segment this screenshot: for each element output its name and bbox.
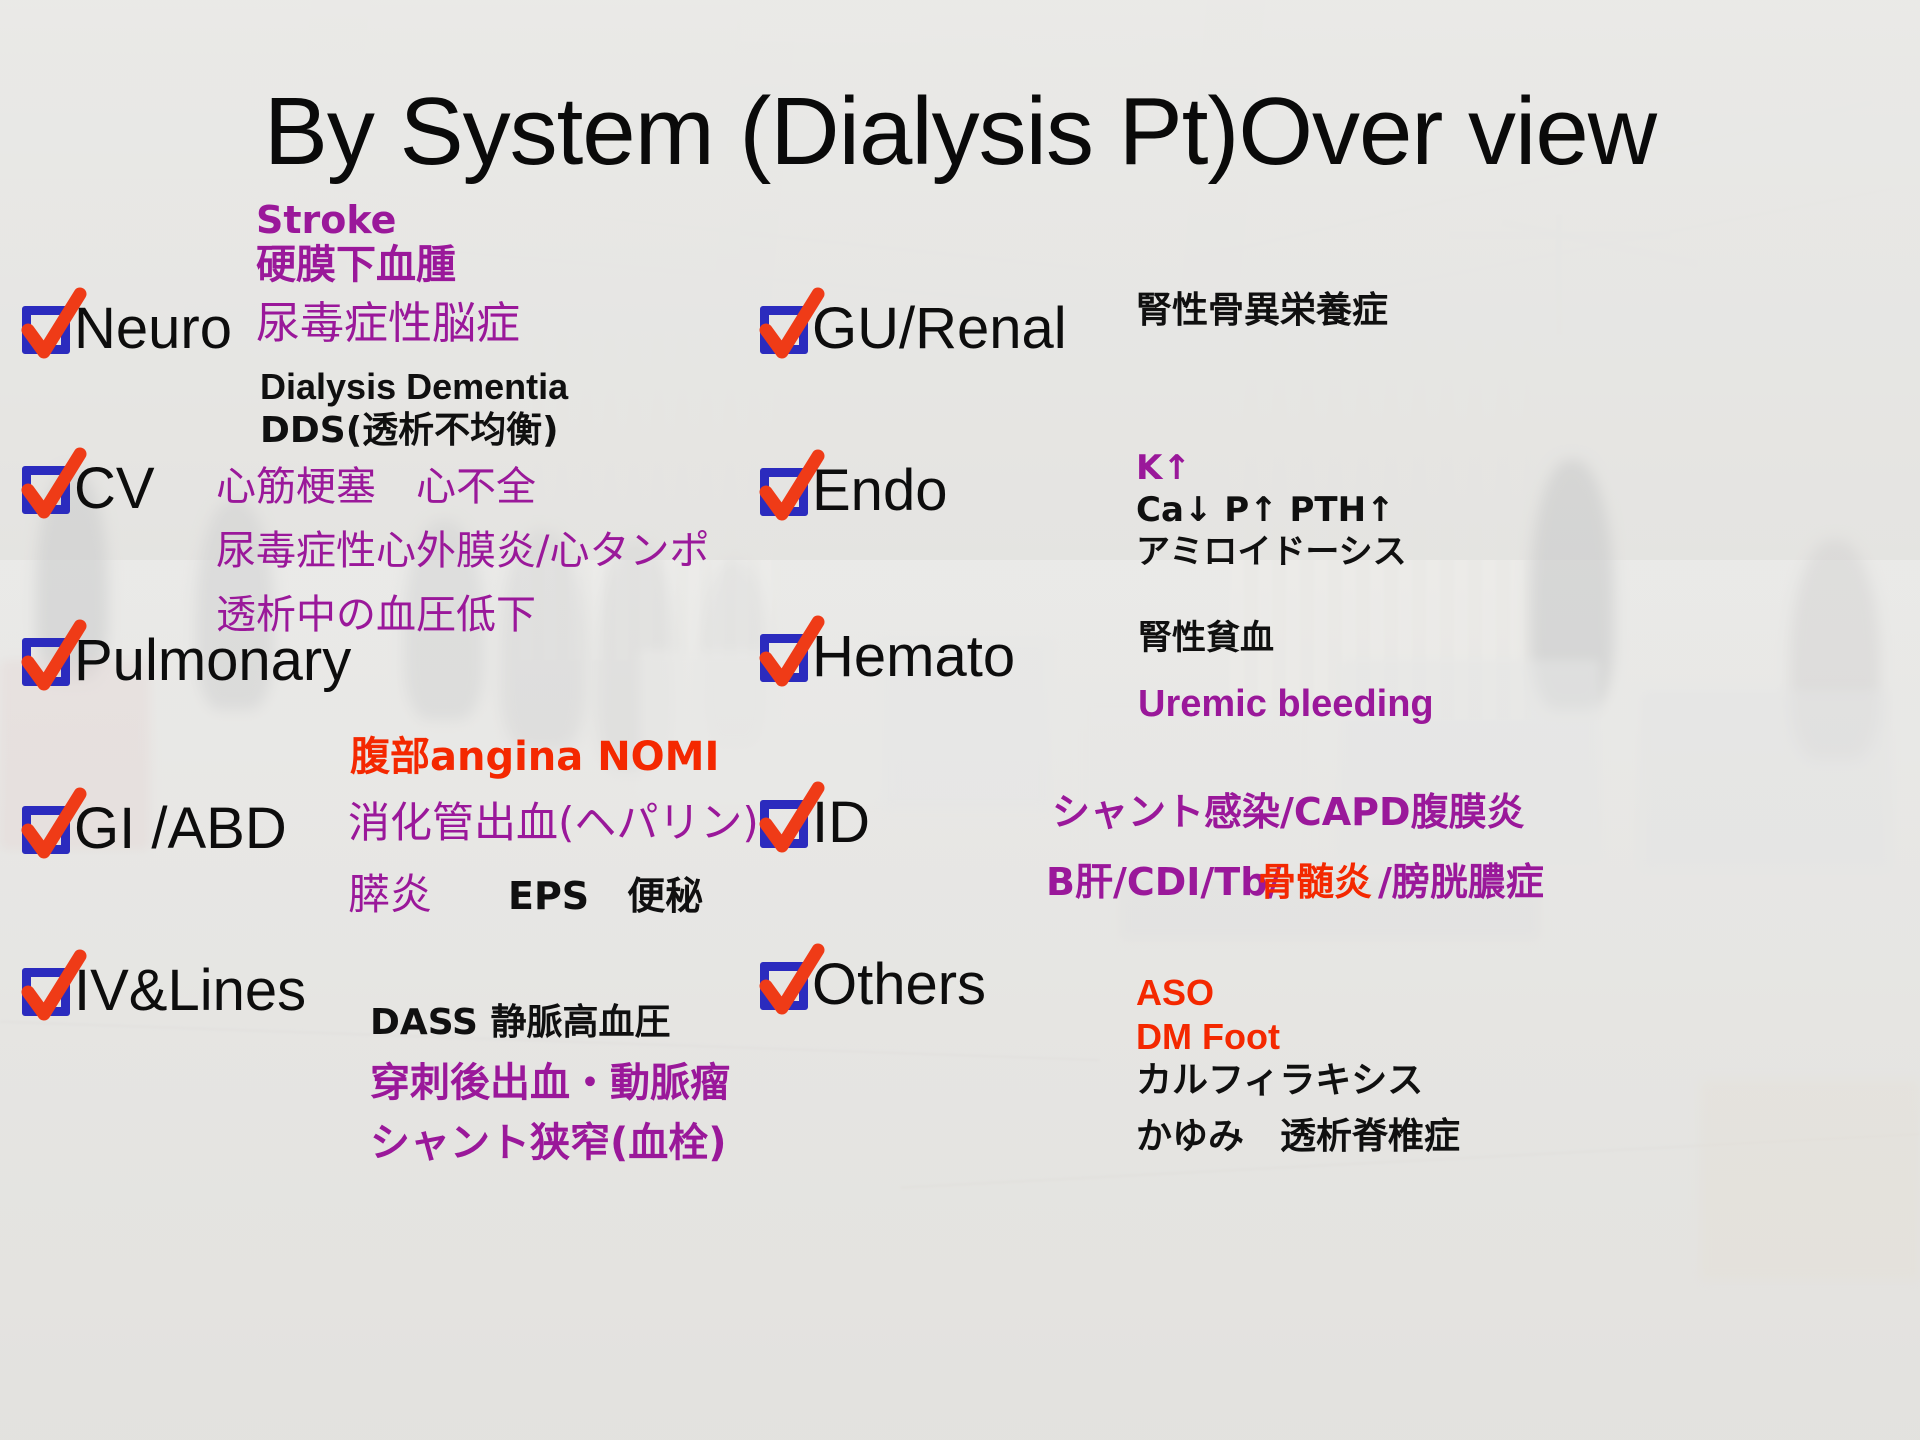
section-header-gu-renal: GU/Renal (812, 300, 1067, 358)
note-hemato-1: Uremic bleeding (1138, 684, 1434, 725)
note-neuro-4: DDS(透析不均衡) (260, 412, 559, 451)
note-neuro-2: 尿毒症性脳症 (256, 300, 520, 348)
note-gu-0: 腎性骨異栄養症 (1136, 292, 1388, 331)
section-header-cv: CV (74, 460, 155, 518)
note-gi-1: 消化管出血(ヘパリン) (348, 800, 759, 845)
section-header-id: ID (812, 794, 870, 852)
note-others-0: ASO (1136, 974, 1214, 1013)
checked-checkbox-icon[interactable] (18, 300, 80, 362)
section-header-gi-abd: GI /ABD (74, 800, 287, 858)
checked-checkbox-icon[interactable] (756, 794, 818, 856)
checked-checkbox-icon[interactable] (18, 460, 80, 522)
section-header-pulmonary: Pulmonary (74, 632, 351, 690)
checked-checkbox-icon[interactable] (756, 956, 818, 1018)
note-others-1: DM Foot (1136, 1018, 1280, 1057)
note-cv-1: 尿毒症性心外膜炎/心タンポ (216, 530, 709, 573)
note-id-3: /膀胱膿症 (1378, 862, 1544, 903)
note-gi-2: 膵炎 (348, 872, 432, 917)
note-others-2: カルフィラキシス (1136, 1062, 1423, 1101)
section-header-others: Others (812, 956, 986, 1014)
note-neuro-3: Dialysis Dementia (260, 368, 568, 407)
checked-checkbox-icon[interactable] (18, 800, 80, 862)
note-id-2: 骨髄炎 (1258, 862, 1372, 903)
section-header-iv-lines: IV&Lines (74, 962, 306, 1020)
note-gi-0: 腹部angina NOMI (350, 736, 719, 779)
note-iv-0: DASS 静脈高血圧 (370, 1004, 671, 1043)
checked-checkbox-icon[interactable] (756, 628, 818, 690)
note-neuro-0: Stroke (256, 200, 396, 241)
note-neuro-1: 硬膜下血腫 (256, 244, 456, 287)
section-header-hemato: Hemato (812, 628, 1015, 686)
note-iv-1: 穿刺後出血・動脈瘤 (370, 1062, 730, 1105)
note-id-0: シャント感染/CAPD腹膜炎 (1052, 792, 1525, 833)
note-cv-0: 心筋梗塞 心不全 (216, 466, 536, 509)
note-endo-1: Ca↓ P↑ PTH↑ (1136, 492, 1395, 529)
note-endo-0: K↑ (1136, 450, 1191, 487)
checked-checkbox-icon[interactable] (18, 632, 80, 694)
note-others-3: かゆみ 透析脊椎症 (1136, 1118, 1460, 1157)
note-id-1: B肝/CDI/Tb/ (1046, 862, 1281, 903)
section-header-endo: Endo (812, 462, 947, 520)
checked-checkbox-icon[interactable] (756, 462, 818, 524)
checked-checkbox-icon[interactable] (18, 962, 80, 1024)
note-gi-3: EPS 便秘 (508, 876, 703, 917)
note-iv-2: シャント狭窄(血栓) (370, 1122, 727, 1165)
section-header-neuro: Neuro (74, 300, 232, 358)
page-title: By System (Dialysis Pt)Over view (0, 84, 1920, 180)
note-hemato-0: 腎性貧血 (1138, 620, 1274, 657)
checked-checkbox-icon[interactable] (756, 300, 818, 362)
note-endo-2: アミロイドーシス (1136, 534, 1407, 571)
